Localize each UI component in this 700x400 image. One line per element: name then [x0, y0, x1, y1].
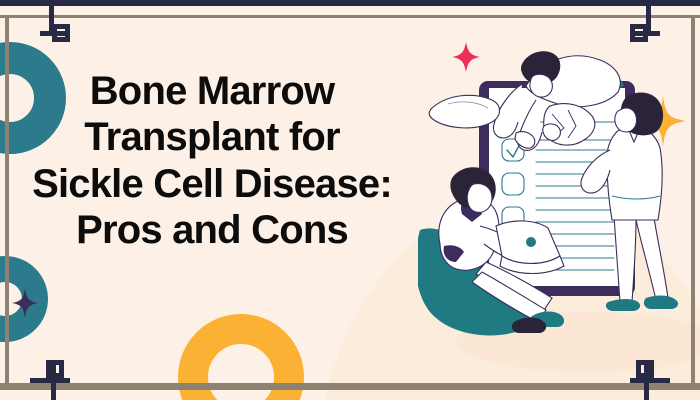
corner-bracket-bottom-right: [600, 345, 670, 400]
title-line-1: Bone Marrow: [14, 68, 410, 114]
frame-inner-line-right: [691, 15, 695, 390]
frame-inner-line-left: [5, 15, 9, 390]
purple-sparkle-icon: [12, 288, 38, 318]
corner-bracket-top-right: [590, 0, 660, 50]
pink-plus-icon: [452, 42, 480, 72]
poster-title: Bone Marrow Transplant for Sickle Cell D…: [14, 68, 410, 254]
title-line-4: Pros and Cons: [14, 207, 410, 253]
team-checklist-illustration: [418, 30, 700, 380]
corner-bracket-bottom-left: [30, 345, 100, 400]
title-line-3: Sickle Cell Disease:: [14, 161, 410, 207]
poster-canvas: Bone Marrow Transplant for Sickle Cell D…: [0, 0, 700, 400]
title-line-2: Transplant for: [14, 114, 410, 160]
frame-inner-line-bottom: [0, 383, 700, 390]
corner-bracket-top-left: [40, 0, 110, 50]
